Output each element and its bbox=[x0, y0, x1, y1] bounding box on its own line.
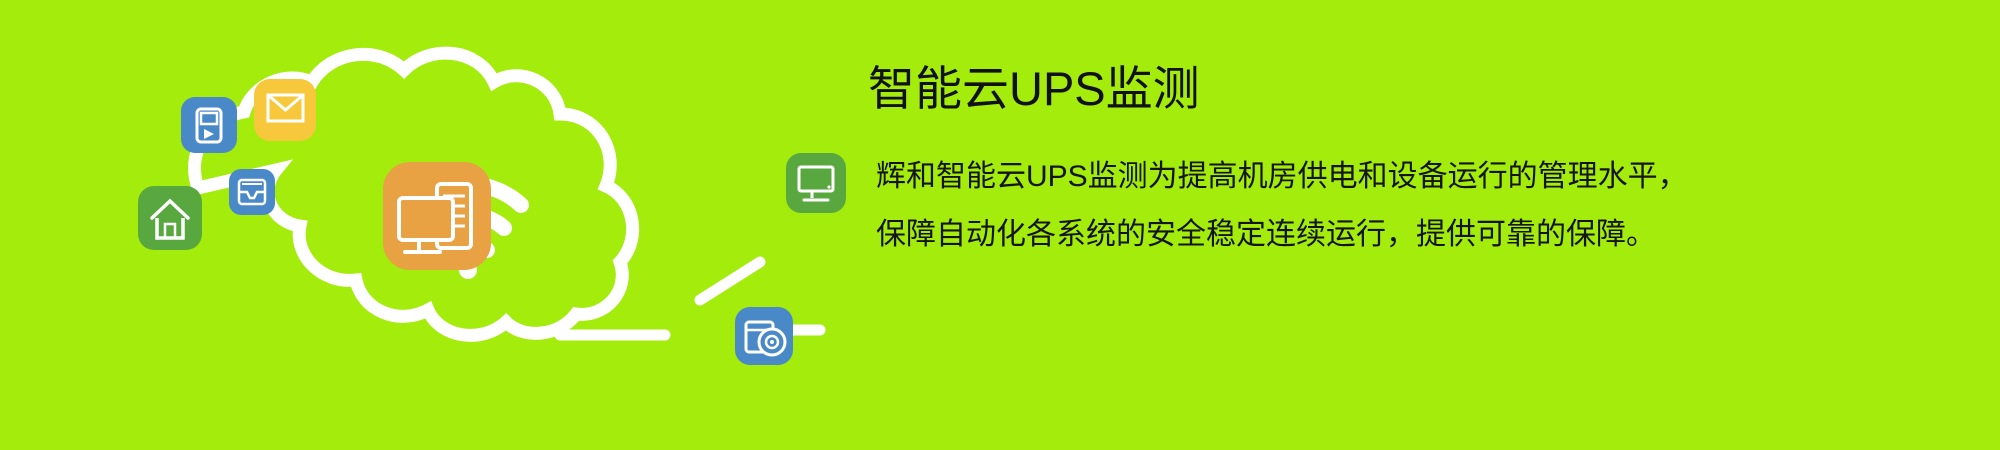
description-line-1: 辉和智能云UPS监测为提高机房供电和设备运行的管理水平， bbox=[876, 162, 1968, 192]
envelope-icon[interactable] bbox=[254, 79, 316, 141]
inbox-icon[interactable] bbox=[229, 169, 275, 215]
copy-block: 智能云UPS监测 辉和智能云UPS监测为提高机房供电和设备运行的管理水平， 保障… bbox=[868, 62, 1968, 250]
promo-banner: 智能云UPS监测 辉和智能云UPS监测为提高机房供电和设备运行的管理水平， 保障… bbox=[0, 0, 2000, 450]
cloud-illustration bbox=[0, 0, 880, 450]
home-icon[interactable] bbox=[138, 186, 202, 250]
description-line-2: 保障自动化各系统的安全稳定连续运行，提供可靠的保障。 bbox=[876, 220, 1968, 250]
camera-device-icon[interactable] bbox=[735, 307, 793, 365]
media-player-icon[interactable] bbox=[181, 97, 237, 153]
page-title: 智能云UPS监测 bbox=[868, 62, 1968, 116]
computer-server-icon[interactable] bbox=[383, 162, 491, 270]
monitor-icon[interactable] bbox=[786, 153, 846, 213]
